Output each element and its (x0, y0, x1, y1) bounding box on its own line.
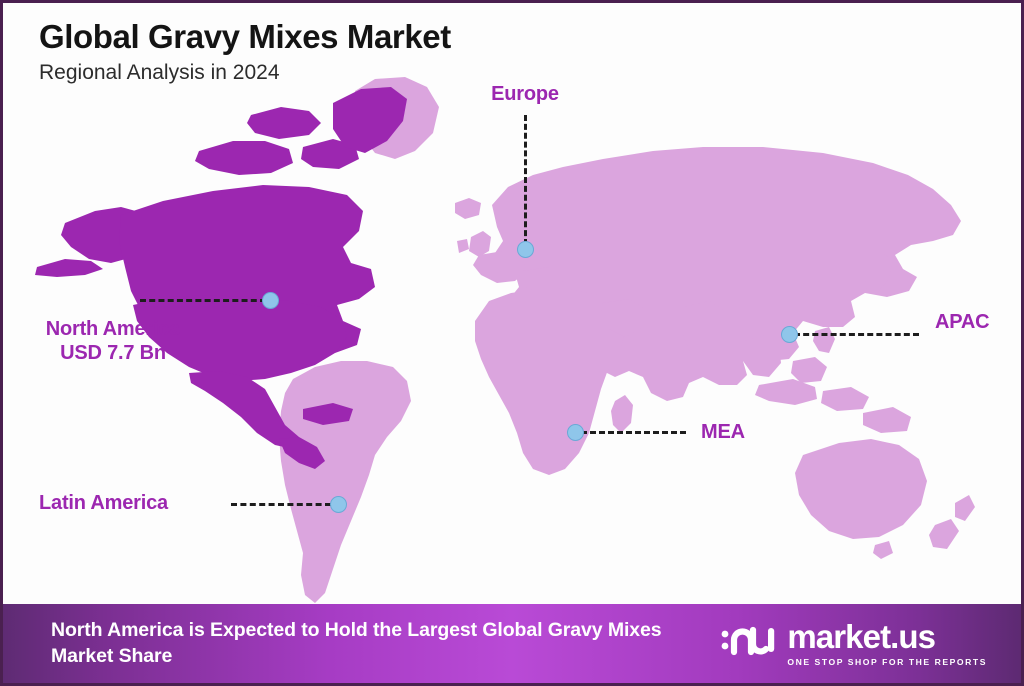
region-label-mea: MEA (701, 421, 745, 445)
region-label-apac: APAC (935, 311, 989, 335)
region-name-latin-america: Latin America (39, 492, 168, 514)
region-madagascar (611, 395, 633, 433)
region-value-north-america: USD 7.7 Bn (13, 342, 213, 366)
region-ireland (457, 239, 469, 253)
region-arctic-islands-2 (247, 107, 321, 139)
region-new-zealand-south (929, 519, 959, 549)
region-name-north-america: North America (46, 318, 180, 340)
logo-wordmark: market.us (787, 620, 935, 653)
region-borneo (791, 357, 827, 383)
leader-line-europe (524, 115, 527, 245)
region-name-apac: APAC (935, 311, 989, 333)
region-label-latin-america: Latin America (39, 492, 168, 516)
region-tasmania (873, 541, 893, 559)
region-iceland (455, 198, 481, 219)
region-british-isles (469, 231, 491, 257)
marker-mea[interactable] (567, 424, 584, 441)
market-us-logo-mark-icon (720, 620, 776, 667)
region-name-mea: MEA (701, 421, 745, 443)
marker-north-america[interactable] (262, 292, 279, 309)
region-label-north-america: North America USD 7.7 Bn (13, 318, 213, 365)
leader-line-north-america (140, 299, 266, 302)
region-new-zealand (955, 495, 975, 521)
region-indonesia-2 (821, 387, 869, 411)
region-name-europe: Europe (491, 83, 559, 105)
page-title: Global Gravy Mixes Market (39, 19, 659, 55)
region-australia (795, 439, 927, 539)
logo-tagline: ONE STOP SHOP FOR THE REPORTS (787, 657, 987, 667)
region-south-america (279, 361, 411, 603)
region-label-europe: Europe (455, 83, 595, 107)
leader-line-latin-america (231, 503, 331, 506)
infographic-root: Global Gravy Mixes Market Regional Analy… (0, 0, 1024, 686)
region-png (863, 407, 911, 433)
bottom-banner: North America is Expected to Hold the La… (3, 604, 1021, 683)
region-north-america-highlight (35, 87, 407, 469)
marker-europe[interactable] (517, 241, 534, 258)
leader-line-apac (794, 333, 919, 336)
banner-headline: North America is Expected to Hold the La… (51, 618, 711, 669)
region-aleutians (35, 259, 103, 277)
market-us-logo-text: market.us ONE STOP SHOP FOR THE REPORTS (787, 620, 987, 667)
region-philippines (813, 327, 835, 353)
marker-latin-america[interactable] (330, 496, 347, 513)
region-arctic-islands-1 (195, 141, 293, 175)
leader-line-mea (581, 431, 686, 434)
region-indonesia-1 (755, 379, 817, 405)
market-us-logo[interactable]: market.us ONE STOP SHOP FOR THE REPORTS (720, 620, 999, 667)
marker-apac[interactable] (781, 326, 798, 343)
